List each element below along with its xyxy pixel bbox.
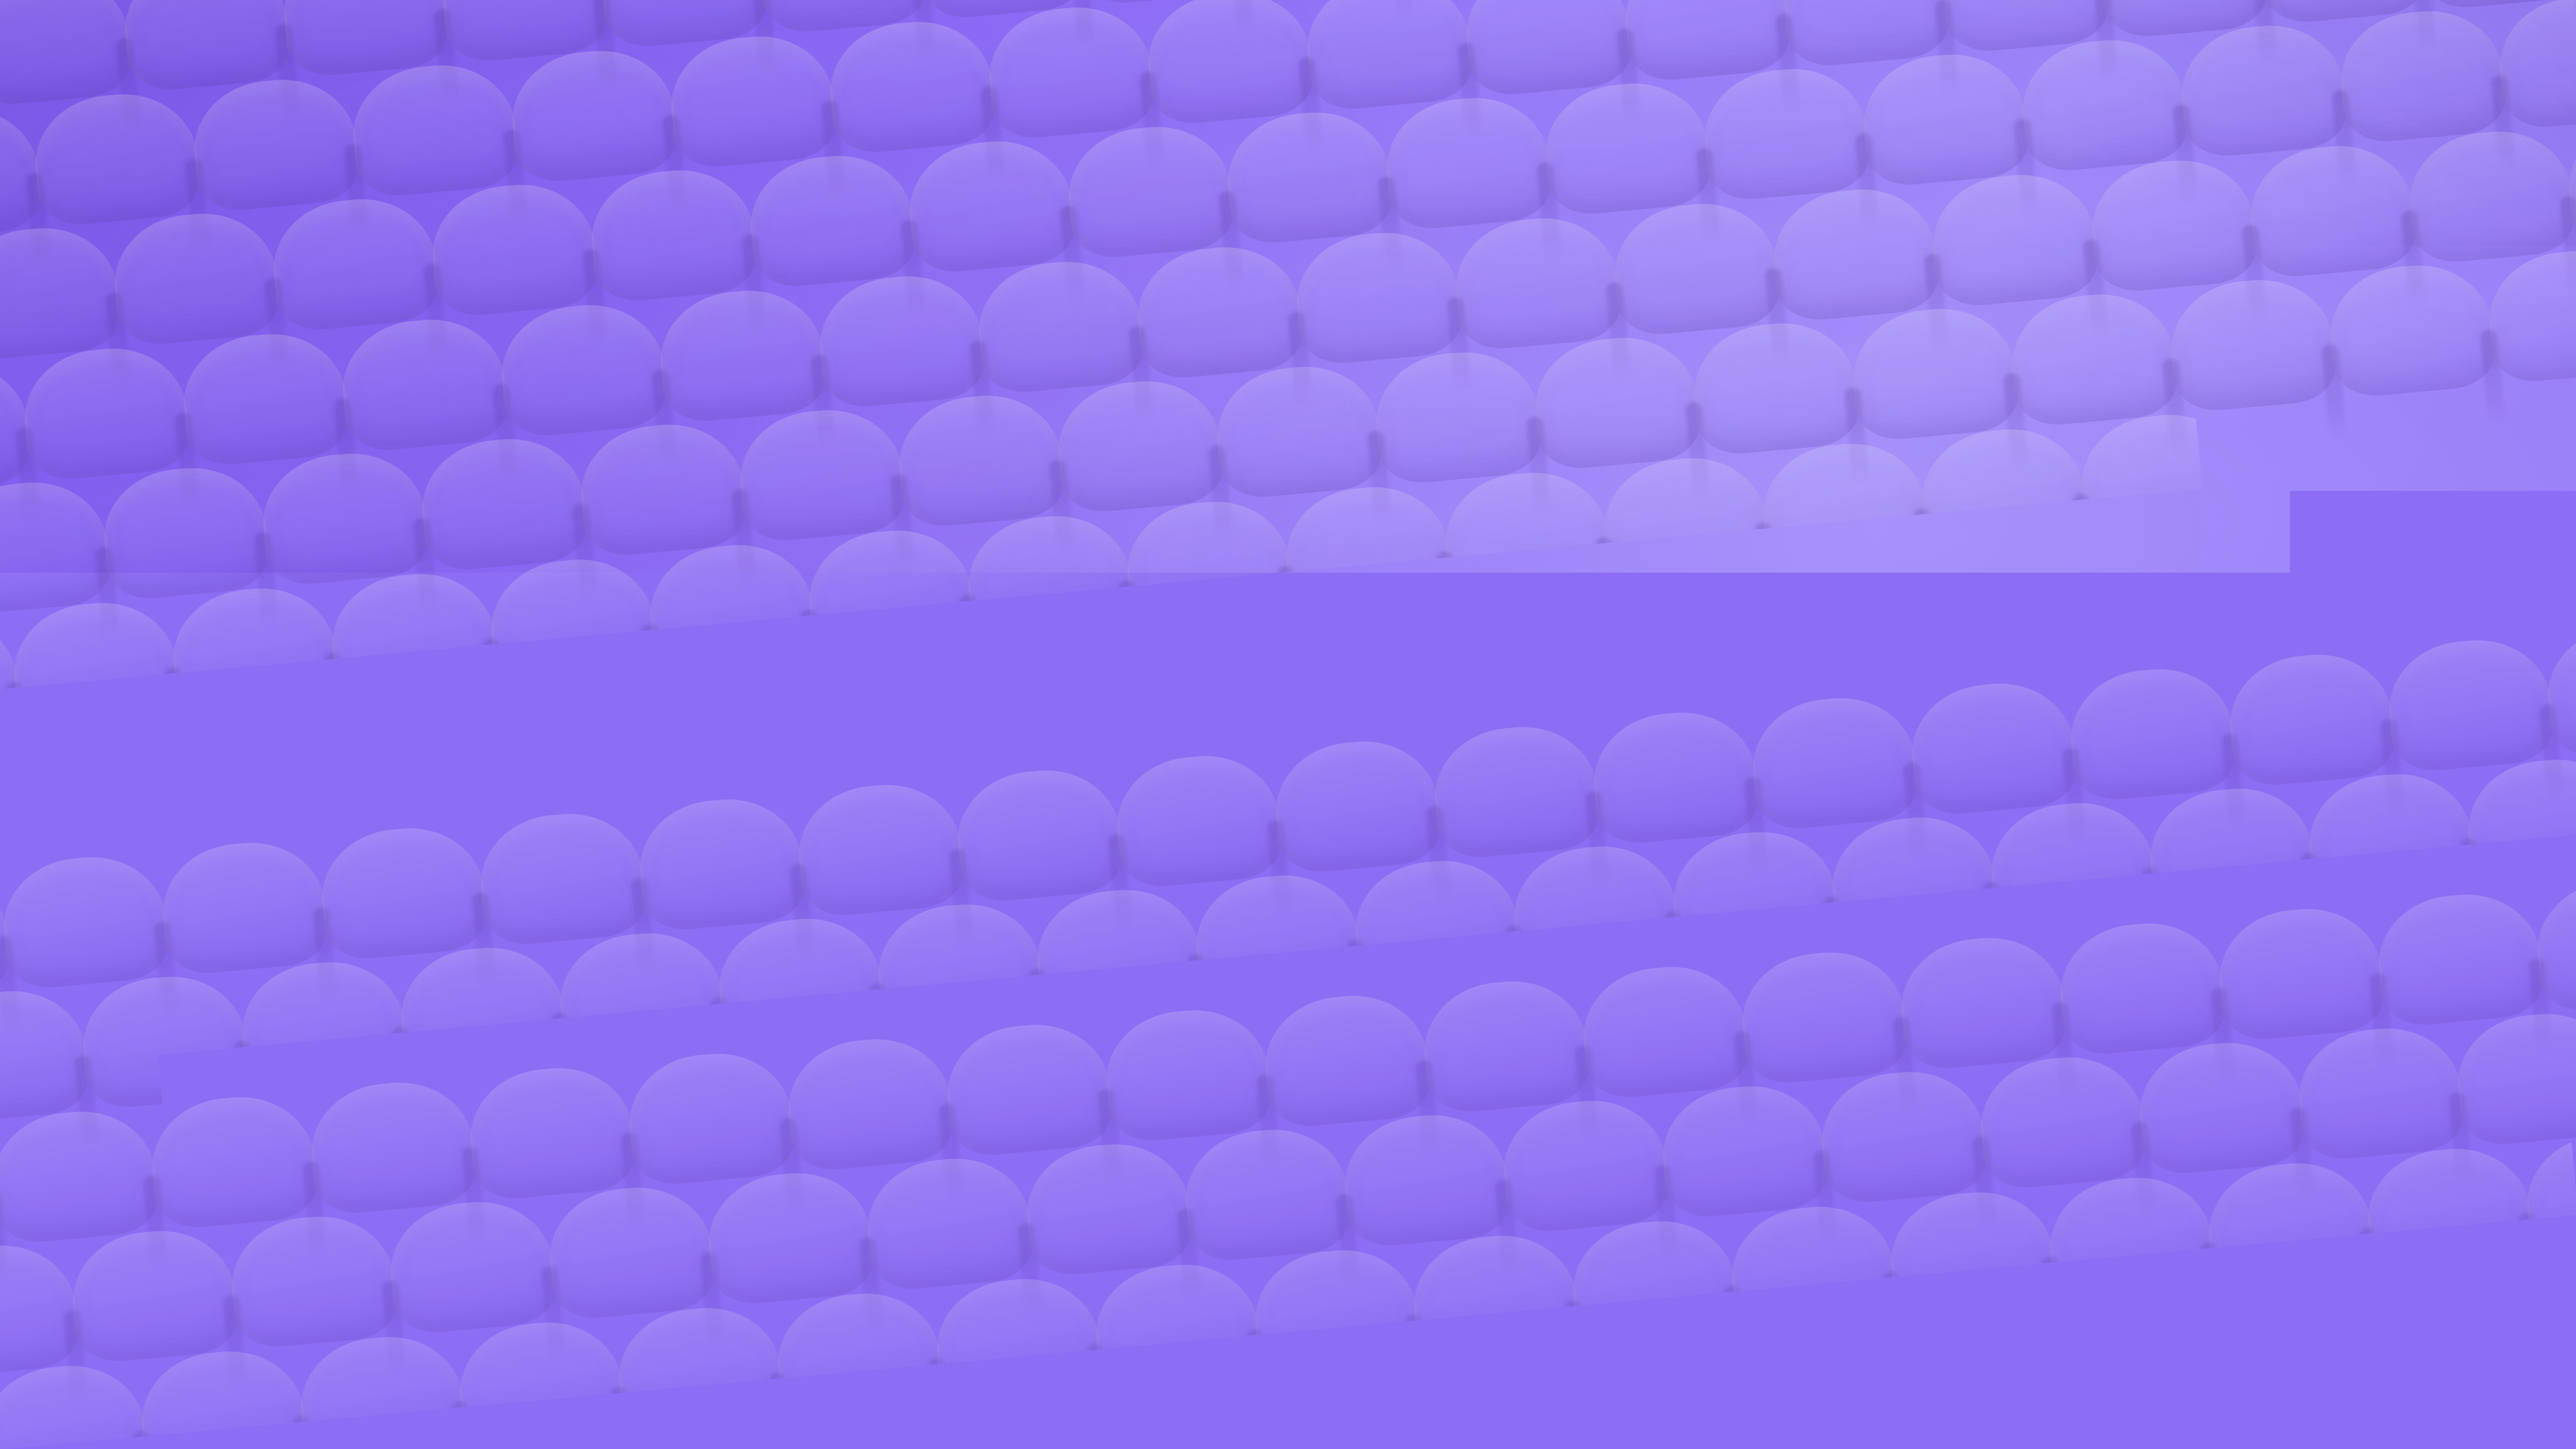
logo-line-2: for the Future bbox=[1801, 1204, 2032, 1245]
cheek-left bbox=[492, 710, 554, 751]
logo-subtitle: Tecnológico de Monterrey bbox=[1801, 1292, 2032, 1312]
pupil-right bbox=[612, 648, 626, 662]
eyebrow-label: Webinar del Observatorio bbox=[1046, 369, 1782, 439]
logo-line-3: of Education bbox=[1801, 1244, 2032, 1285]
cheek-right bbox=[616, 698, 677, 740]
nose bbox=[556, 678, 600, 742]
speaker-name: Mariela Cuda bbox=[1046, 823, 1362, 879]
speaker-photo-illustration bbox=[243, 388, 916, 1060]
logo-line-1: Institute bbox=[1801, 1164, 2032, 1204]
logo-divider bbox=[2104, 1178, 2106, 1298]
ife-f-monogram-icon bbox=[1683, 1171, 1778, 1305]
speaker-portrait-circle bbox=[243, 388, 916, 1060]
observatory-wordmark: Observatory bbox=[2169, 1216, 2398, 1260]
pupil-left bbox=[523, 660, 537, 674]
page-title: Evaluación Activa: ¿Cómo Convertir la Ev… bbox=[1046, 541, 2392, 784]
logo-lockup: Institute for the Future of Education Te… bbox=[1683, 1164, 2398, 1312]
webinar-promo-banner: Webinar del Observatorio Evaluación Acti… bbox=[0, 0, 2576, 1449]
ife-wordmark: Institute for the Future of Education Te… bbox=[1801, 1164, 2032, 1312]
hair-front-strand bbox=[684, 658, 788, 1059]
speaker-role: Formadora, capacitadora docente y escrit… bbox=[1046, 901, 1944, 951]
